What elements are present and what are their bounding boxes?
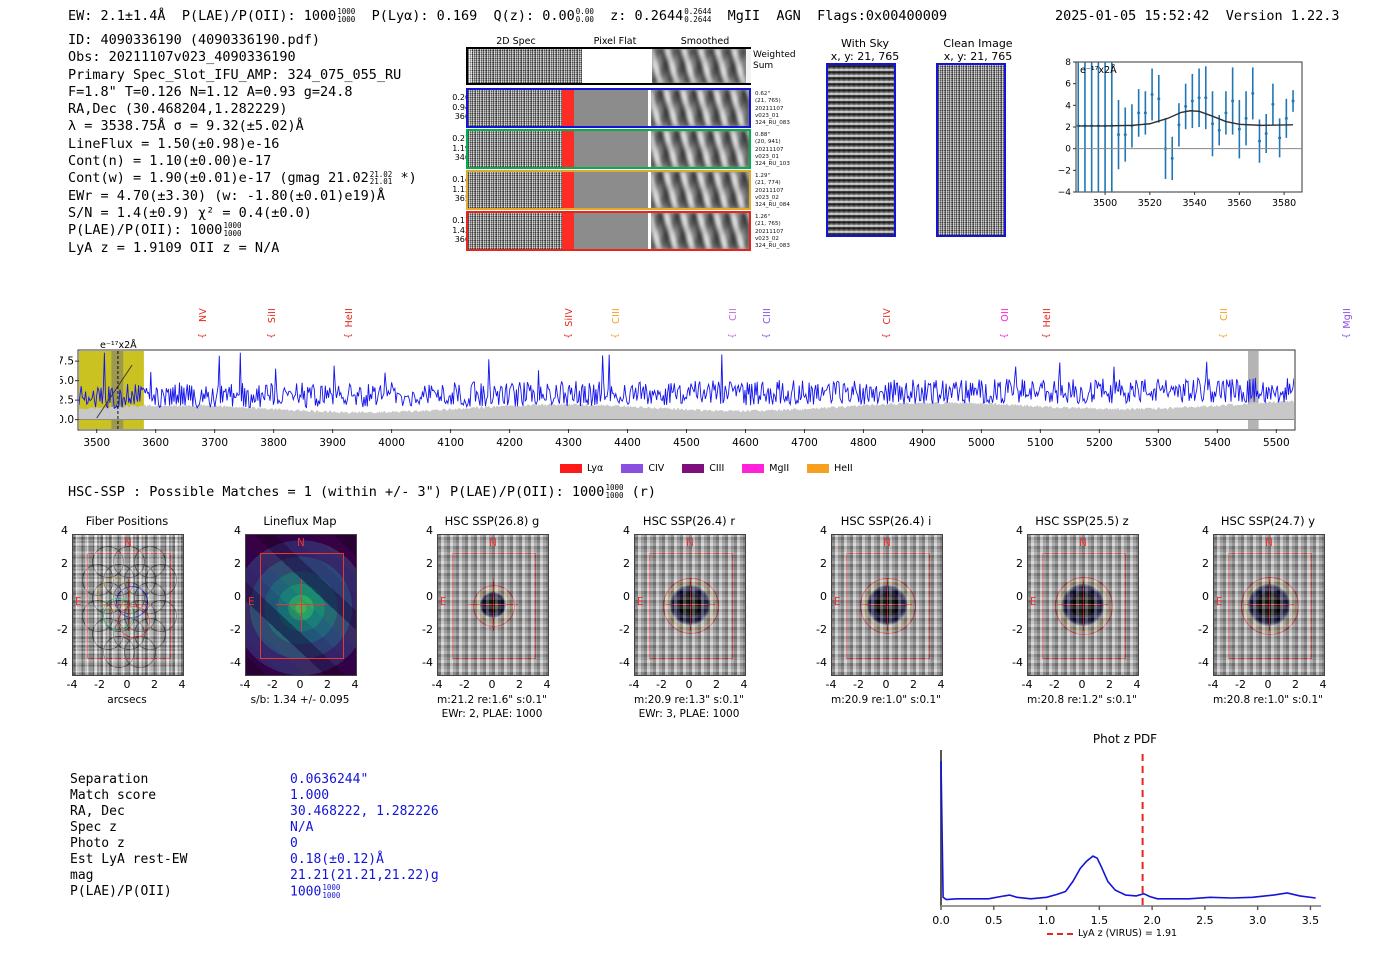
match-value: 100010001000 <box>290 884 340 900</box>
thumbnail-ytick: 4 <box>415 524 433 537</box>
svg-text:4600: 4600 <box>732 437 759 449</box>
thumbnail-xtick: 4 <box>1127 678 1147 691</box>
fiber-circle <box>113 582 145 614</box>
header-flags: Flags:0x00400009 <box>817 8 947 24</box>
match-plae-fraction: 10001000 <box>322 884 340 900</box>
thumbnail-ytick: 4 <box>1005 524 1023 537</box>
fiber-circle <box>134 582 166 614</box>
header-z-fraction: 0.26440.2644 <box>684 8 711 24</box>
fiber-circle <box>82 600 114 632</box>
match-key: Est LyA rest-EW <box>70 852 187 867</box>
phot-z-pdf-chart: Phot z PDF 0.00.51.01.52.02.53.03.5 LyA … <box>925 732 1325 947</box>
thumbnail-title: HSC SSP(24.7) y <box>1188 514 1348 528</box>
thumbnail-ytick: 2 <box>1191 557 1209 570</box>
thumbnail-xtick: -4 <box>624 678 644 691</box>
fiber-circle <box>92 546 124 578</box>
line-fit-annotation: e⁻¹⁷x2Å <box>1080 65 1117 76</box>
thumbnail-ytick: -2 <box>415 623 433 636</box>
legend-color-chip <box>742 464 764 473</box>
match-value: 1.000 <box>290 788 329 803</box>
emission-line-bracket: { <box>267 333 277 339</box>
info-plae: P(LAE)/P(OII): 100010001000 <box>68 222 417 239</box>
thumbnail-xtick: -4 <box>1203 678 1223 691</box>
thumbnail-ytick: 2 <box>612 557 630 570</box>
thumbnail-image[interactable] <box>245 534 357 676</box>
spec-row-right-meta: 1.26"(21, 765)20211107v023_02324_RU_083 <box>755 214 790 250</box>
thumbnail-caption-2: EWr: 3, PLAE: 1000 <box>589 708 789 720</box>
thumbnail-ytick: -2 <box>1191 623 1209 636</box>
match-value: 30.468222, 1.282226 <box>290 804 439 819</box>
info-id: ID: 4090336190 (4090336190.pdf) <box>68 32 417 49</box>
emission-line-bracket: { <box>1042 333 1052 339</box>
header-z-label: z: 0.2644 <box>610 8 683 24</box>
fiber-circle <box>134 618 166 650</box>
north-label: N <box>297 537 305 549</box>
thumbnail-ytick: -2 <box>223 623 241 636</box>
svg-text:−4: −4 <box>1058 188 1072 198</box>
east-label: E <box>248 596 255 608</box>
spec-row-strip <box>466 170 751 210</box>
svg-text:5200: 5200 <box>1086 437 1113 449</box>
thumbnail-xtick: -2 <box>652 678 672 691</box>
svg-text:5500: 5500 <box>1263 437 1290 449</box>
spec-row-right-meta: 0.88"(20, 941)20211107v023_01324_RU_103 <box>755 132 790 168</box>
svg-text:4700: 4700 <box>791 437 818 449</box>
aperture-ring-yellow <box>864 582 912 630</box>
thumbnail-xtick: 4 <box>734 678 754 691</box>
svg-text:3.5: 3.5 <box>1302 914 1320 927</box>
phot-z-pdf-title: Phot z PDF <box>925 732 1325 746</box>
object-info-block: ID: 4090336190 (4090336190.pdf) Obs: 202… <box>68 32 417 257</box>
full-spectrum-svg: 3500360037003800390040004100420043004400… <box>60 348 1300 473</box>
info-primary-spec-slot: Primary Spec_Slot_IFU_AMP: 324_075_055_R… <box>68 67 417 84</box>
info-plae-fraction: 10001000 <box>223 222 241 238</box>
east-label: E <box>637 596 644 608</box>
svg-text:3800: 3800 <box>260 437 287 449</box>
svg-text:3.0: 3.0 <box>1249 914 1267 927</box>
legend-label: Lyα <box>587 463 603 474</box>
legend-label: MgII <box>769 463 789 474</box>
thumbnail-xtick: -2 <box>455 678 475 691</box>
east-label: E <box>440 596 447 608</box>
thumbnail-image[interactable] <box>1213 534 1325 676</box>
crosshair-horizontal <box>468 604 518 605</box>
thumbnail-ytick: -4 <box>612 656 630 669</box>
svg-text:2: 2 <box>1065 123 1071 133</box>
thumbnail-xtick: -4 <box>1017 678 1037 691</box>
source-blob <box>1248 584 1290 626</box>
thumbnail-ytick: -4 <box>415 656 433 669</box>
crosshair-horizontal <box>103 604 153 605</box>
svg-text:4400: 4400 <box>614 437 641 449</box>
east-label: E <box>1030 596 1037 608</box>
spec-row-strip <box>466 88 751 128</box>
legend-color-chip <box>682 464 704 473</box>
thumbnail-ytick: 0 <box>612 590 630 603</box>
svg-text:3500: 3500 <box>83 437 110 449</box>
spec-row-strip <box>466 129 751 169</box>
emission-line-label: SiII <box>267 308 278 323</box>
legend-color-chip <box>560 464 582 473</box>
thumbnail-xtick: -4 <box>821 678 841 691</box>
fiber-circle <box>134 546 166 578</box>
thumbnail-caption-1: m:20.9 re:1.0" s:0.1" <box>786 694 986 706</box>
hsc-plae-fraction: 10001000 <box>605 484 623 500</box>
svg-text:6: 6 <box>1065 80 1071 90</box>
fiber-circle <box>145 600 177 632</box>
thumbnail-ytick: 2 <box>1005 557 1023 570</box>
phot-z-legend-label: LyA z (VIRUS) = 1.91 <box>1078 928 1177 939</box>
emission-line-label: CII <box>1219 308 1230 321</box>
header-plya: P(Lyα): 0.169 <box>372 8 478 24</box>
fiber-circle <box>113 618 145 650</box>
thumbnail-xtick: 4 <box>172 678 192 691</box>
match-key: Match score <box>70 788 156 803</box>
match-value: 0 <box>290 836 298 851</box>
fiber-circle <box>92 582 124 614</box>
thumbnail-xtick: 2 <box>1100 678 1120 691</box>
thumbnail-xtick: -2 <box>90 678 110 691</box>
svg-text:3520: 3520 <box>1138 198 1162 209</box>
crosshair-horizontal <box>665 604 715 605</box>
emission-line-label: CII <box>728 308 739 321</box>
svg-text:2.5: 2.5 <box>1196 914 1214 927</box>
emission-line-bracket: { <box>1342 333 1352 339</box>
svg-text:4: 4 <box>1065 101 1071 111</box>
emission-line-label: HeII <box>344 308 355 327</box>
thumbnail-caption-1: s/b: 1.34 +/- 0.095 <box>200 694 400 706</box>
svg-text:0.5: 0.5 <box>985 914 1003 927</box>
panel-title-pixel-flat: Pixel Flat <box>560 36 670 47</box>
svg-text:1.0: 1.0 <box>1038 914 1056 927</box>
aperture-ring-yellow <box>667 582 715 630</box>
thumbnail-ytick: 4 <box>809 524 827 537</box>
red-box-overlay <box>87 553 171 659</box>
north-label: N <box>883 537 891 549</box>
north-label: N <box>124 537 132 549</box>
fiber-circle-highlight <box>116 586 148 618</box>
red-box-overlay <box>452 553 536 659</box>
match-key: Separation <box>70 772 148 787</box>
thumbnail-xtick: 2 <box>904 678 924 691</box>
svg-text:5000: 5000 <box>968 437 995 449</box>
emission-line-label: CIII <box>611 308 622 324</box>
phot-z-legend: LyA z (VIRUS) = 1.91 <box>1045 928 1177 939</box>
svg-text:4800: 4800 <box>850 437 877 449</box>
match-key: RA, Dec <box>70 804 125 819</box>
red-box-overlay <box>1042 553 1126 659</box>
thumbnail-ytick: 4 <box>1191 524 1209 537</box>
svg-text:0.0: 0.0 <box>60 414 74 426</box>
emission-line-label: SiIV <box>564 308 575 327</box>
header-mgii: MgII <box>728 8 761 24</box>
thumbnail-caption-1: arcsecs <box>27 694 227 706</box>
match-key: Photo z <box>70 836 125 851</box>
aperture-ring-yellow <box>1059 581 1109 631</box>
emission-line-bracket: { <box>1000 333 1010 339</box>
info-redshifts: LyA z = 1.9109 OII z = N/A <box>68 240 417 257</box>
header-qz-fraction: 0.000.00 <box>576 8 594 24</box>
fiber-circle <box>124 564 156 596</box>
fiber-circle <box>103 636 135 668</box>
match-value: 0.18(±0.12)Å <box>290 852 384 867</box>
svg-text:1.5: 1.5 <box>1091 914 1109 927</box>
thumbnail-title: HSC SSP(25.5) z <box>1002 514 1162 528</box>
east-label: E <box>1216 596 1223 608</box>
aperture-ring-red <box>860 578 916 634</box>
fiber-circle <box>103 600 135 632</box>
thumbnail-ytick: -2 <box>50 623 68 636</box>
emission-line-bracket: { <box>762 333 772 339</box>
thumbnail-ytick: 0 <box>415 590 433 603</box>
svg-text:4500: 4500 <box>673 437 700 449</box>
thumbnail-xtick: -4 <box>427 678 447 691</box>
info-lambda-sigma: λ = 3538.75Å σ = 9.32(±5.02)Å <box>68 118 417 135</box>
north-label: N <box>686 537 694 549</box>
thumbnail-xtick: 4 <box>1313 678 1333 691</box>
svg-text:0: 0 <box>1065 145 1071 155</box>
crosshair-horizontal <box>862 604 912 605</box>
red-box-overlay <box>260 553 344 659</box>
svg-text:0.0: 0.0 <box>932 914 950 927</box>
thumbnail-title: Fiber Positions <box>47 514 207 528</box>
thumbnail-ytick: 2 <box>223 557 241 570</box>
thumbnail-ytick: 4 <box>50 524 68 537</box>
thumbnail-ytick: -2 <box>809 623 827 636</box>
fiber-circle <box>124 636 156 668</box>
info-seeing: F=1.8" T=0.126 N=1.12 A=0.93 g=24.8 <box>68 84 417 101</box>
svg-text:2.5: 2.5 <box>60 395 74 407</box>
header-ew: EW: 2.1±1.4Å <box>68 8 166 24</box>
thumbnail-caption-1: m:20.8 re:1.2" s:0.1" <box>982 694 1182 706</box>
svg-text:4200: 4200 <box>496 437 523 449</box>
aperture-ring-red <box>1241 577 1299 635</box>
thumbnail-caption-1: m:20.8 re:1.0" s:0.1" <box>1168 694 1368 706</box>
legend-label: CIII <box>709 463 724 474</box>
aperture-ring-yellow <box>477 589 511 623</box>
thumbnail-title: HSC SSP(26.4) i <box>806 514 966 528</box>
legend-label: HeII <box>834 463 853 474</box>
thumbnail-xtick: -2 <box>263 678 283 691</box>
thumbnail-xtick: 2 <box>145 678 165 691</box>
line-fit-svg: −4−20246835003520354035603580 <box>1038 58 1306 213</box>
thumbnail-xtick: 2 <box>318 678 338 691</box>
crosshair-vertical <box>1269 579 1270 631</box>
legend-color-chip <box>621 464 643 473</box>
red-box-overlay <box>846 553 930 659</box>
north-label: N <box>1265 537 1273 549</box>
source-blob <box>670 585 710 625</box>
aperture-ring-red <box>1055 577 1113 635</box>
thumbnail-ytick: 0 <box>809 590 827 603</box>
header-version: Version 1.22.3 <box>1226 8 1340 24</box>
svg-text:3560: 3560 <box>1227 198 1251 209</box>
source-blob <box>480 592 506 618</box>
spectrum-legend: LyαCIVCIIIMgIIHeII <box>560 458 871 472</box>
fiber-background <box>73 535 183 675</box>
clean-image-title: Clean Imagex, y: 21, 765 <box>928 37 1028 63</box>
fiber-circle-highlight <box>98 578 130 610</box>
emission-line-label: OII <box>1000 308 1011 322</box>
thumbnail-xtick: 0 <box>290 678 310 691</box>
svg-text:3900: 3900 <box>319 437 346 449</box>
thumbnail-xtick: -2 <box>849 678 869 691</box>
match-key: mag <box>70 868 93 883</box>
source-blob <box>1062 584 1104 626</box>
aperture-ring-red <box>473 585 515 627</box>
crosshair-vertical <box>493 579 494 631</box>
thumbnail-ytick: 4 <box>223 524 241 537</box>
with-sky-cutout <box>826 63 896 237</box>
thumbnail-xtick: -2 <box>1231 678 1251 691</box>
red-box-overlay <box>1228 553 1312 659</box>
match-value: N/A <box>290 820 313 835</box>
emission-line-bracket: { <box>728 333 738 339</box>
crosshair-vertical <box>887 579 888 631</box>
thumbnail-ytick: 2 <box>415 557 433 570</box>
spectrum-annotation: e⁻¹⁷x2Å <box>100 340 137 351</box>
match-value: 0.0636244" <box>290 772 368 787</box>
info-radec: RA,Dec (30.468204,1.282229) <box>68 101 417 118</box>
legend-color-chip <box>807 464 829 473</box>
weighted-sum-label: Weighted Sum <box>753 50 796 72</box>
info-sn-chi2: S/N = 1.4(±0.9) χ² = 0.4(±0.0) <box>68 205 417 222</box>
thumbnail-xtick: 0 <box>876 678 896 691</box>
fiber-circle <box>103 564 135 596</box>
thumbnail-xtick: 2 <box>510 678 530 691</box>
weighted-sum-strip <box>466 47 751 85</box>
thumbnail-image[interactable] <box>72 534 184 676</box>
spec-row-strip <box>466 211 751 251</box>
panel-title-2d-spec: 2D Spec <box>466 36 566 47</box>
crosshair-vertical <box>1083 579 1084 631</box>
fiber-circle-highlight <box>102 598 134 630</box>
info-gmag-fraction: 21.0221.01 <box>370 171 393 187</box>
fiber-circle <box>82 564 114 596</box>
svg-text:4900: 4900 <box>909 437 936 449</box>
match-key: P(LAE)/P(OII) <box>70 884 172 899</box>
svg-text:4300: 4300 <box>555 437 582 449</box>
emission-line-label: CIII <box>762 308 773 324</box>
header-agn: AGN <box>776 8 800 24</box>
emission-line-bracket: { <box>1219 333 1229 339</box>
emission-line-bracket: { <box>198 333 208 339</box>
header-plae-label: P(LAE)/P(OII): 1000 <box>182 8 336 24</box>
match-value: 21.21(21.21,21.22)g <box>290 868 439 883</box>
emission-line-bracket: { <box>564 333 574 339</box>
svg-text:5300: 5300 <box>1145 437 1172 449</box>
spec-row-right-meta: 0.62"(21, 765)20211107v023_01324_RU_083 <box>755 91 790 127</box>
thumbnail-xtick: 4 <box>537 678 557 691</box>
hsc-summary-line: HSC-SSP : Possible Matches = 1 (within +… <box>68 484 656 500</box>
thumbnail-title: HSC SSP(26.4) r <box>609 514 769 528</box>
fiber-circle <box>145 564 177 596</box>
thumbnail-image[interactable] <box>1027 534 1139 676</box>
header-timestamp-version: 2025-01-05 15:52:42 Version 1.22.3 <box>1055 8 1340 24</box>
thumbnail-xtick: 4 <box>345 678 365 691</box>
svg-text:4000: 4000 <box>378 437 405 449</box>
svg-text:7.5: 7.5 <box>60 356 74 368</box>
thumbnail-ytick: -4 <box>1191 656 1209 669</box>
crosshair-horizontal <box>1244 604 1294 605</box>
thumbnail-ytick: 2 <box>809 557 827 570</box>
emission-line-bracket: { <box>882 333 892 339</box>
svg-text:3540: 3540 <box>1183 198 1207 209</box>
svg-text:2.0: 2.0 <box>1143 914 1161 927</box>
emission-line-bracket: { <box>344 333 354 339</box>
east-label: E <box>834 596 841 608</box>
thumbnail-xtick: 2 <box>1286 678 1306 691</box>
svg-text:4100: 4100 <box>437 437 464 449</box>
fiber-circle <box>124 600 156 632</box>
crosshair-vertical <box>690 579 691 631</box>
thumbnail-ytick: 0 <box>1005 590 1023 603</box>
panel-title-smoothed: Smoothed <box>655 36 755 47</box>
fiber-circle-highlight <box>118 606 150 638</box>
thumbnail-xtick: 2 <box>707 678 727 691</box>
thumbnail-ytick: -4 <box>809 656 827 669</box>
thumbnail-xtick: -2 <box>1045 678 1065 691</box>
svg-text:3600: 3600 <box>142 437 169 449</box>
thumbnail-title: Lineflux Map <box>220 514 380 528</box>
thumbnail-image[interactable] <box>437 534 549 676</box>
info-cont-n: Cont(n) = 1.10(±0.00)e-17 <box>68 153 417 170</box>
thumbnail-ytick: -2 <box>1005 623 1023 636</box>
header-summary-line: EW: 2.1±1.4Å P(LAE)/P(OII): 100010001000… <box>68 8 947 24</box>
thumbnail-xtick: -4 <box>235 678 255 691</box>
info-obs: Obs: 20211107v023_4090336190 <box>68 49 417 66</box>
thumbnail-ytick: -4 <box>223 656 241 669</box>
aperture-ring-yellow <box>1245 581 1295 631</box>
info-lineflux: LineFlux = 1.50(±0.98)e-16 <box>68 136 417 153</box>
thumbnail-caption-1: m:20.9 re:1.3" s:0.1" <box>589 694 789 706</box>
thumbnail-ytick: -2 <box>612 623 630 636</box>
full-spectrum-chart: NV{SiII{HeII{SiIV{CIII{CII{CIII{CIV{OII{… <box>60 300 1300 470</box>
phot-z-legend-dash-icon <box>1045 929 1075 939</box>
thumbnail-xtick: 0 <box>117 678 137 691</box>
svg-text:5100: 5100 <box>1027 437 1054 449</box>
thumbnail-ytick: 4 <box>612 524 630 537</box>
header-timestamp: 2025-01-05 15:52:42 <box>1055 8 1209 24</box>
crosshair-vertical <box>128 579 129 631</box>
with-sky-title: With Skyx, y: 21, 765 <box>820 37 910 63</box>
svg-text:5400: 5400 <box>1204 437 1231 449</box>
emission-line-bracket: { <box>611 333 621 339</box>
thumbnail-image[interactable] <box>634 534 746 676</box>
aperture-ring-red <box>663 578 719 634</box>
thumbnail-image[interactable] <box>831 534 943 676</box>
phot-z-pdf-svg: 0.00.51.01.52.02.53.03.5 <box>925 748 1325 938</box>
crosshair-vertical <box>301 579 302 631</box>
thumbnail-xtick: 0 <box>482 678 502 691</box>
source-blob <box>867 585 907 625</box>
thumbnail-ytick: -4 <box>50 656 68 669</box>
crosshair-horizontal <box>1058 604 1108 605</box>
info-ewr: EWr = 4.70(±3.30) (w: -1.80(±0.01)e19)Å <box>68 188 417 205</box>
svg-text:3500: 3500 <box>1093 198 1117 209</box>
thumbnail-xtick: -4 <box>62 678 82 691</box>
emission-line-label: NV <box>198 308 209 322</box>
east-label: E <box>75 596 82 608</box>
header-plae-fraction: 10001000 <box>337 8 355 24</box>
thumbnail-ytick: 0 <box>1191 590 1209 603</box>
fiber-circle <box>92 618 124 650</box>
emission-line-label: HeII <box>1042 308 1053 327</box>
thumbnail-ytick: -4 <box>1005 656 1023 669</box>
clean-image-cutout <box>936 63 1006 237</box>
svg-text:3700: 3700 <box>201 437 228 449</box>
header-qz-label: Q(z): 0.00 <box>494 8 575 24</box>
